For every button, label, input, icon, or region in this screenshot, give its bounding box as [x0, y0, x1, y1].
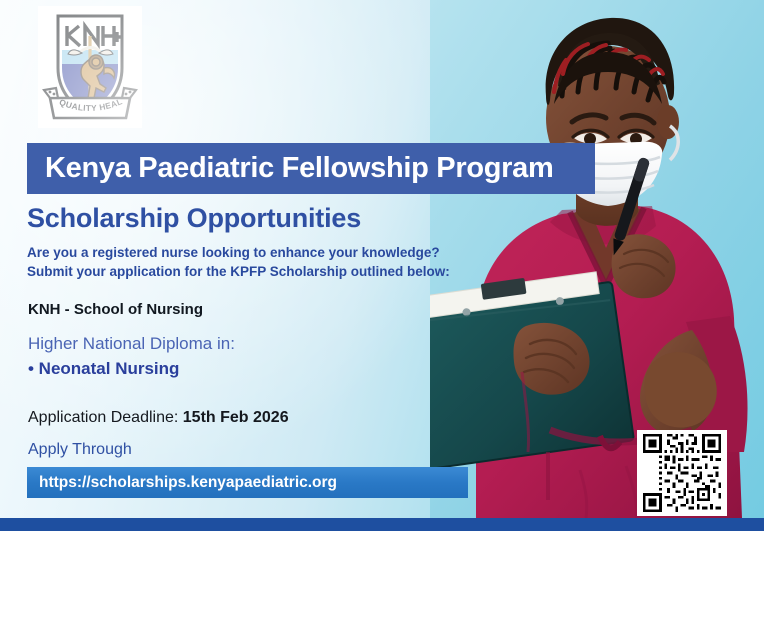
poster-lead-text: Are you a registered nurse looking to en…: [27, 243, 450, 281]
application-url-bar[interactable]: https://scholarships.kenyapaediatric.org: [27, 467, 468, 498]
diploma-label: Higher National Diploma in:: [28, 334, 235, 354]
qr-code[interactable]: [637, 430, 727, 516]
lead-line-1: Are you a registered nurse looking to en…: [27, 243, 450, 262]
poster-root: QUALITY HEALTH CARE Kenya Paediatric Fel…: [0, 0, 764, 621]
application-deadline: Application Deadline: 15th Feb 2026: [28, 409, 289, 427]
poster-title-band: Kenya Paediatric Fellowship Program: [27, 143, 595, 194]
poster-artwork: QUALITY HEALTH CARE Kenya Paediatric Fel…: [0, 0, 764, 518]
deadline-label: Application Deadline:: [28, 409, 183, 426]
application-url[interactable]: https://scholarships.kenyapaediatric.org: [27, 474, 337, 492]
poster-subtitle: Scholarship Opportunities: [27, 203, 361, 234]
deadline-value: 15th Feb 2026: [183, 409, 289, 426]
knh-logo: QUALITY HEALTH CARE: [38, 6, 142, 128]
course-item-neonatal-nursing: • Neonatal Nursing: [28, 359, 179, 379]
lead-line-2: Submit your application for the KPFP Sch…: [27, 262, 450, 281]
partner-logos-footer: REPUBLIC OF KENYA MINISTRY OF HEALTH: [0, 531, 764, 621]
bottom-accent-bar: [0, 518, 764, 531]
apply-through-label: Apply Through: [28, 441, 132, 459]
page-title: Kenya Paediatric Fellowship Program: [27, 152, 553, 185]
school-name: KNH - School of Nursing: [28, 301, 203, 318]
